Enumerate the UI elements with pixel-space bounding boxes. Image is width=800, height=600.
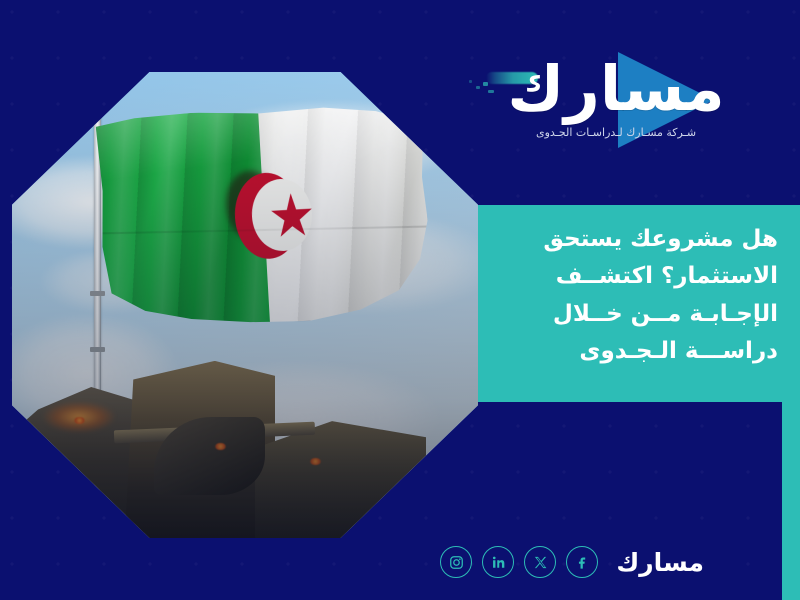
facebook-icon[interactable] [566,546,598,578]
headline-line: دراســـة الـجـدوى [492,333,778,370]
logo-tagline: شـركة مسـارك لـدراسـات الجـدوى [498,126,734,139]
headline-text: هل مشروعك يستحق الاستثمار؟ اكتشــف الإجـ… [492,221,778,370]
headline-line: الاستثمار؟ اكتشــف [492,258,778,295]
teal-edge-strip [782,402,800,600]
footer-brand-label: مسارك [616,548,704,577]
logo-speck [469,80,472,83]
logo-speck [488,90,494,93]
banner-canvas: مسارك شـركة مسـارك لـدراسـات الجـدوى هل … [0,0,800,600]
flag-photo [12,72,478,538]
headline-line: الإجـابـة مــن خــلال [492,296,778,333]
photo-octagon [12,72,478,538]
logo-speck [483,82,488,86]
headline-panel: هل مشروعك يستحق الاستثمار؟ اكتشــف الإجـ… [478,205,800,402]
flag-pole-finial [88,72,107,80]
footer-social-row: مسارك [440,546,704,578]
logo-speck [476,86,480,89]
headline-line: هل مشروعك يستحق [492,221,778,258]
brand-logo[interactable]: مسارك شـركة مسـارك لـدراسـات الجـدوى [498,46,734,156]
photo-vignette [12,72,478,538]
linkedin-icon[interactable] [482,546,514,578]
instagram-icon[interactable] [440,546,472,578]
logo-wordmark: مسارك [498,48,734,130]
x-twitter-icon[interactable] [524,546,556,578]
